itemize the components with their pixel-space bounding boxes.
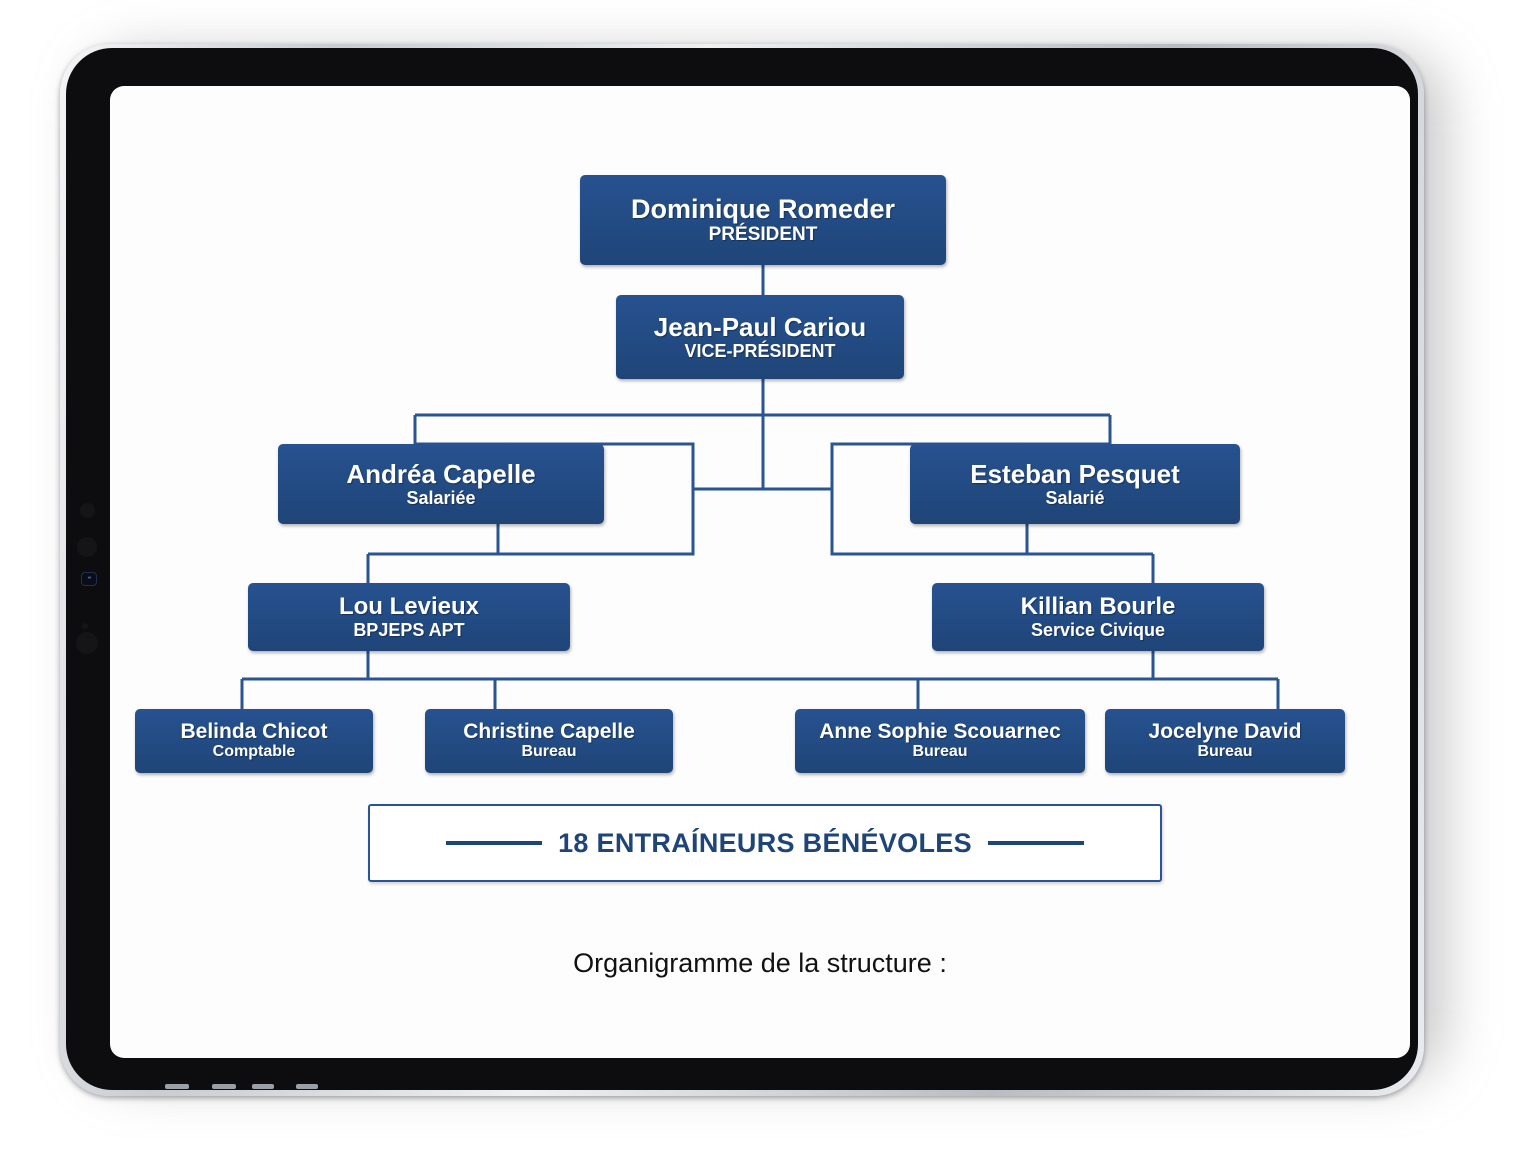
speaker-grille-icon [165, 1084, 189, 1089]
org-node-name: Andréa Capelle [346, 460, 535, 488]
org-node-name: Esteban Pesquet [970, 460, 1180, 488]
org-node-name: Anne Sophie Scouarnec [819, 721, 1061, 744]
org-node-name: Belinda Chicot [180, 721, 327, 744]
org-node-role: Salarié [1045, 488, 1104, 508]
volunteers-banner: 18 ENTRAÍNEURS BÉNÉVOLES [368, 804, 1162, 882]
tablet-screen: Dominique Romeder PRÉSIDENT Jean-Paul Ca… [110, 86, 1410, 1058]
org-node-role: Service Civique [1031, 620, 1165, 640]
device-stage: •• [0, 0, 1520, 1154]
org-node-jocelyne-david[interactable]: Jocelyne David Bureau [1105, 709, 1345, 773]
speaker-grille-icon [212, 1084, 236, 1089]
banner-rule-right [988, 841, 1084, 845]
org-node-belinda-chicot[interactable]: Belinda Chicot Comptable [135, 709, 373, 773]
org-node-name: Christine Capelle [463, 721, 635, 744]
org-node-role: VICE-PRÉSIDENT [684, 341, 835, 361]
org-node-name: Killian Bourle [1021, 594, 1176, 620]
org-node-christine-capelle[interactable]: Christine Capelle Bureau [425, 709, 673, 773]
org-node-andrea-capelle[interactable]: Andréa Capelle Salariée [278, 444, 604, 524]
org-node-vice-president[interactable]: Jean-Paul Cariou VICE-PRÉSIDENT [616, 295, 904, 379]
org-node-role: BPJEPS APT [353, 620, 464, 640]
camera-dot-icon [76, 632, 98, 654]
camera-dot-icon [80, 503, 95, 518]
org-node-role: Salariée [406, 488, 475, 508]
speaker-grille-icon [296, 1084, 318, 1089]
org-node-name: Dominique Romeder [631, 195, 895, 224]
volunteers-label: 18 ENTRAÍNEURS BÉNÉVOLES [558, 828, 972, 859]
org-node-killian-bourle[interactable]: Killian Bourle Service Civique [932, 583, 1264, 651]
org-node-role: Bureau [521, 743, 576, 761]
org-node-role: PRÉSIDENT [709, 224, 818, 245]
org-node-name: Jean-Paul Cariou [654, 313, 866, 341]
org-node-role: Bureau [1197, 743, 1252, 761]
org-chart: Dominique Romeder PRÉSIDENT Jean-Paul Ca… [110, 86, 1410, 1058]
org-node-name: Lou Levieux [339, 594, 479, 620]
chart-caption: Organigramme de la structure : [110, 948, 1410, 979]
speaker-grille-icon [252, 1084, 274, 1089]
org-node-role: Bureau [912, 743, 967, 761]
ambient-sensor-icon: •• [81, 572, 97, 586]
org-node-anne-sophie-scouarnec[interactable]: Anne Sophie Scouarnec Bureau [795, 709, 1085, 773]
org-node-role: Comptable [213, 743, 296, 761]
org-node-esteban-pesquet[interactable]: Esteban Pesquet Salarié [910, 444, 1240, 524]
org-node-lou-levieux[interactable]: Lou Levieux BPJEPS APT [248, 583, 570, 651]
org-node-president[interactable]: Dominique Romeder PRÉSIDENT [580, 175, 946, 265]
microphone-dot-icon [82, 623, 88, 629]
banner-rule-left [446, 841, 542, 845]
org-node-name: Jocelyne David [1149, 721, 1302, 744]
camera-dot-icon [77, 537, 97, 557]
